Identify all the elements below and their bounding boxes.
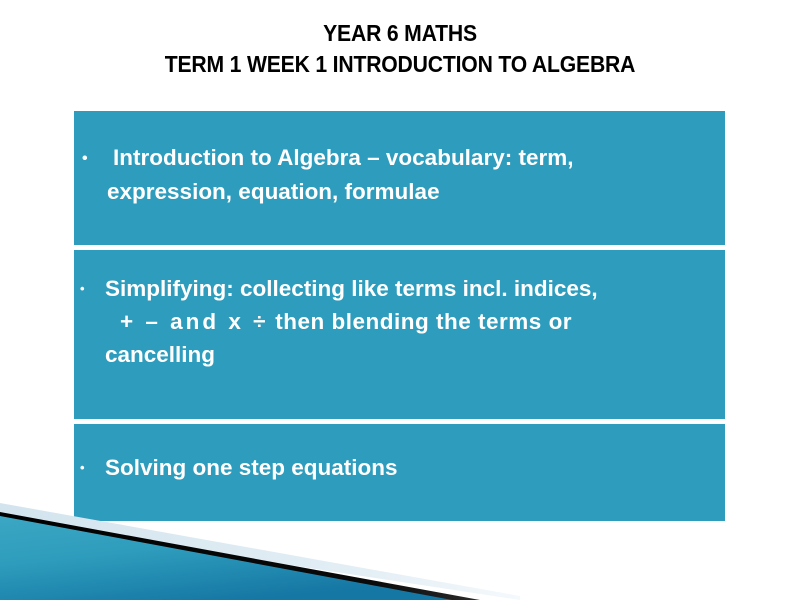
bullet-line-2-rest: then blending the terms or: [275, 309, 572, 334]
math-operators-text: + – and x ÷: [120, 309, 269, 334]
bullet-point-icon: •: [80, 451, 105, 484]
bullet-line-3: cancelling: [80, 338, 715, 371]
bullet-line-2: expression, equation, formulae: [80, 175, 715, 208]
content-row: •Introduction to Algebra – vocabulary: t…: [74, 111, 725, 245]
bullet-point-icon: •: [80, 142, 113, 175]
slide-title-line-1: YEAR 6 MATHS: [32, 18, 768, 49]
bullet-line-2: + – and x ÷ then blending the terms or: [80, 305, 715, 338]
content-row: •Solving one step equations: [74, 424, 725, 521]
bullet-line-1: Introduction to Algebra – vocabulary: te…: [113, 145, 573, 170]
bullet-item-text: •Introduction to Algebra – vocabulary: t…: [80, 141, 715, 208]
slide-title: YEAR 6 MATHS TERM 1 WEEK 1 INTRODUCTION …: [32, 18, 768, 80]
slide-title-line-2: TERM 1 WEEK 1 INTRODUCTION TO ALGEBRA: [32, 49, 768, 80]
bullet-point-icon: •: [80, 272, 105, 305]
bullet-line-1: Solving one step equations: [105, 455, 398, 480]
corner-band-dark: [0, 512, 480, 600]
bullet-line-1: Simplifying: collecting like terms incl.…: [105, 276, 598, 301]
corner-band-blue: [0, 516, 452, 600]
slide-canvas: YEAR 6 MATHS TERM 1 WEEK 1 INTRODUCTION …: [0, 0, 800, 600]
content-table: •Introduction to Algebra – vocabulary: t…: [74, 111, 725, 521]
bullet-item-text: •Simplifying: collecting like terms incl…: [80, 272, 715, 371]
bullet-item-text: •Solving one step equations: [80, 451, 715, 484]
content-row: •Simplifying: collecting like terms incl…: [74, 250, 725, 419]
